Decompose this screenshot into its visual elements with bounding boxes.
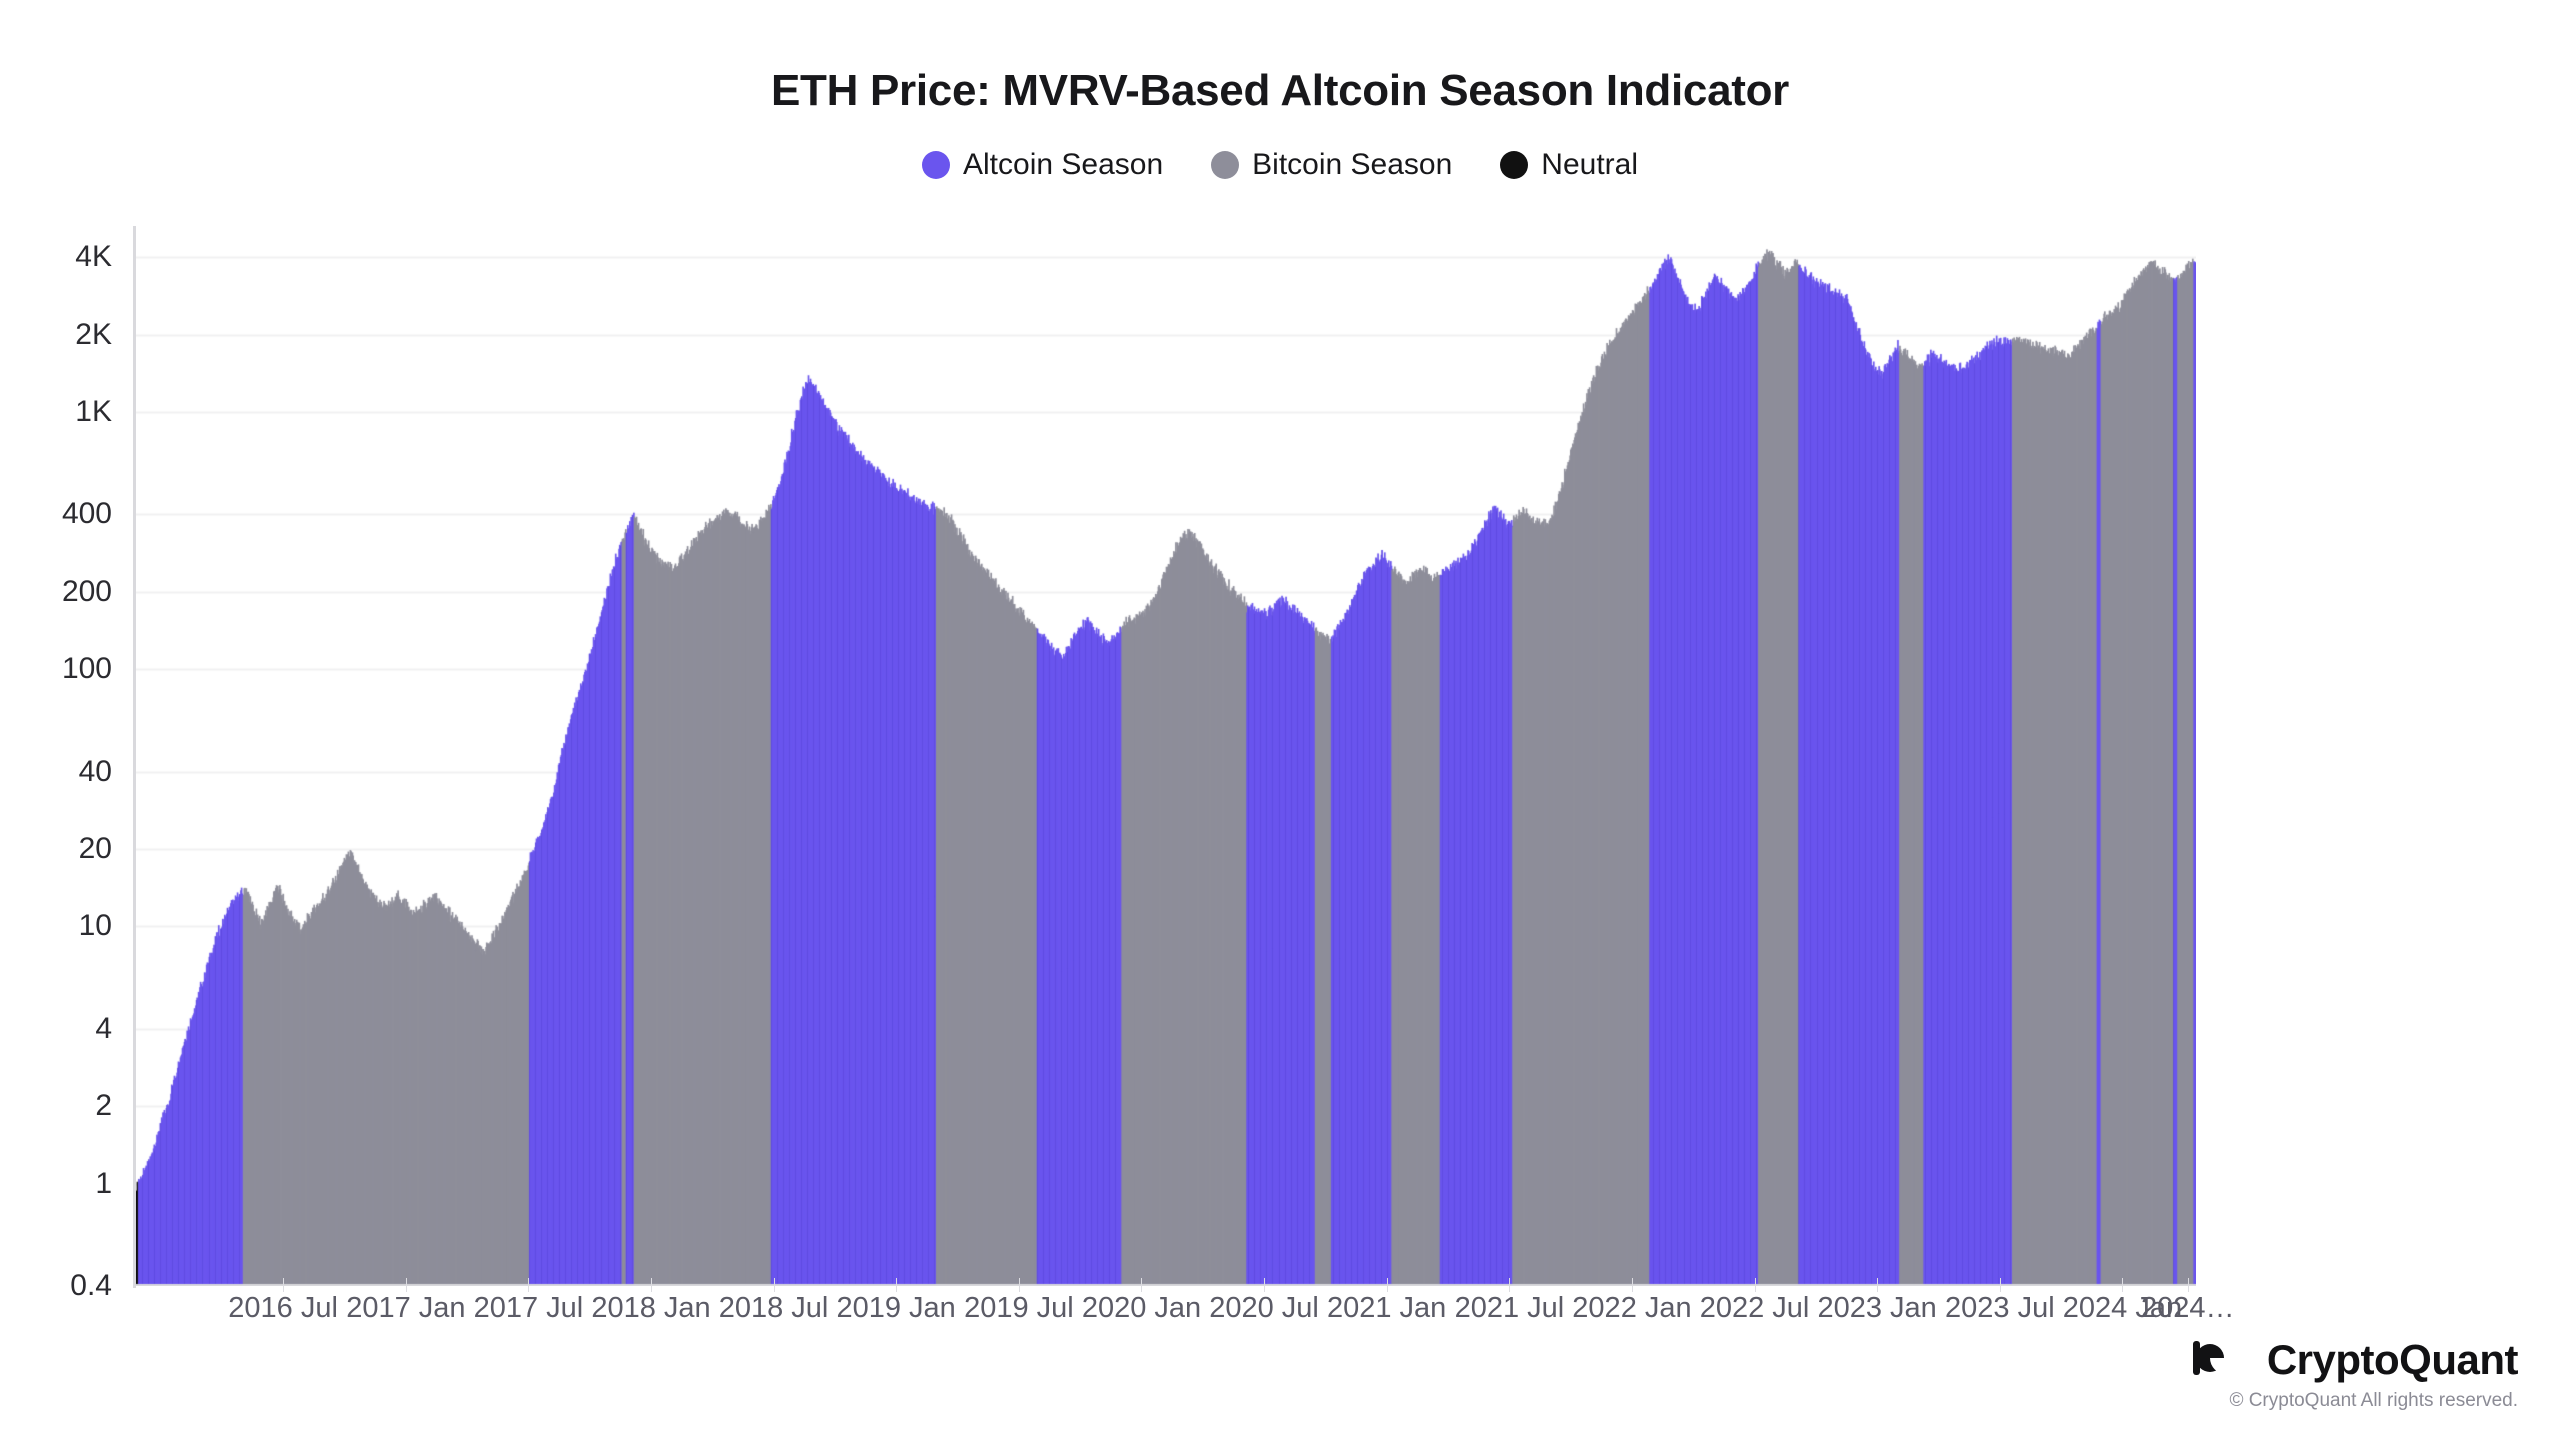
- x-axis-tick-label: 2018 Jul: [719, 1292, 829, 1325]
- legend-item-altcoin[interactable]: Altcoin Season: [922, 148, 1163, 182]
- x-axis-tick-label: 2022 Jan: [1572, 1292, 1691, 1325]
- price-area-chart[interactable]: [136, 228, 2196, 1286]
- y-axis-tick-label: 1K: [75, 395, 112, 429]
- y-axis-tick-label: 4K: [75, 240, 112, 274]
- plot-area[interactable]: [136, 228, 2196, 1286]
- x-axis-tick-mark: [2188, 1278, 2189, 1292]
- x-axis-tick-mark: [1877, 1278, 1878, 1292]
- x-axis-tick-mark: [1755, 1278, 1756, 1292]
- x-axis-tick-mark: [283, 1278, 284, 1292]
- x-axis-tick-mark: [651, 1278, 652, 1292]
- x-axis-tick-label: 2020 Jan: [1082, 1292, 1201, 1325]
- x-axis-tick-label: 2023 Jan: [1817, 1292, 1936, 1325]
- y-axis-tick-label: 0.4: [70, 1269, 112, 1303]
- legend-label: Neutral: [1541, 148, 1638, 182]
- y-axis-tick-label: 10: [79, 909, 112, 943]
- y-axis-tick-label: 20: [79, 832, 112, 866]
- x-axis-tick-mark: [2122, 1278, 2123, 1292]
- x-axis-tick-mark: [2000, 1278, 2001, 1292]
- brand-name: CryptoQuant: [2267, 1336, 2518, 1384]
- x-axis-tick-mark: [406, 1278, 407, 1292]
- x-axis-tick-label: 2016 Jul: [228, 1292, 338, 1325]
- y-axis-tick-label: 200: [62, 575, 112, 609]
- x-axis-tick-label: 2019 Jul: [964, 1292, 1074, 1325]
- legend-item-bitcoin[interactable]: Bitcoin Season: [1211, 148, 1452, 182]
- y-axis-tick-label: 100: [62, 652, 112, 686]
- x-axis-tick-mark: [1141, 1278, 1142, 1292]
- y-axis-tick-label: 2: [95, 1089, 112, 1123]
- x-axis-tick-label: 2021 Jul: [1455, 1292, 1565, 1325]
- x-axis-tick-label: 2017 Jul: [474, 1292, 584, 1325]
- x-axis-tick-label: 2018 Jan: [591, 1292, 710, 1325]
- y-axis-labels: 4K2K1K4002001004020104210.4: [0, 228, 126, 1286]
- x-axis-tick-label: 2023 Jul: [1945, 1292, 2055, 1325]
- x-axis-tick-mark: [1019, 1278, 1020, 1292]
- x-axis-tick-mark: [774, 1278, 775, 1292]
- chart-legend: Altcoin SeasonBitcoin SeasonNeutral: [0, 148, 2560, 182]
- x-axis-tick-label: 2021 Jan: [1327, 1292, 1446, 1325]
- legend-label: Altcoin Season: [963, 148, 1163, 182]
- y-axis-tick-label: 1: [95, 1167, 112, 1201]
- y-axis-tick-label: 4: [95, 1012, 112, 1046]
- x-axis-tick-label: 2019 Jan: [836, 1292, 955, 1325]
- legend-item-neutral[interactable]: Neutral: [1500, 148, 1638, 182]
- legend-swatch-neutral-icon: [1500, 151, 1528, 179]
- x-axis-tick-mark: [1387, 1278, 1388, 1292]
- x-axis-tick-label: 2022 Jul: [1700, 1292, 1810, 1325]
- copyright-text: © CryptoQuant All rights reserved.: [2193, 1390, 2518, 1412]
- y-axis-tick-label: 2K: [75, 318, 112, 352]
- page-title: ETH Price: MVRV-Based Altcoin Season Ind…: [0, 66, 2560, 116]
- x-axis-tick-mark: [1509, 1278, 1510, 1292]
- x-axis-tick-label: 2017 Jan: [346, 1292, 465, 1325]
- y-axis-tick-label: 40: [79, 755, 112, 789]
- x-axis-tick-mark: [528, 1278, 529, 1292]
- x-axis-tick-mark: [896, 1278, 897, 1292]
- x-axis-tick-mark: [1264, 1278, 1265, 1292]
- legend-swatch-bitcoin-icon: [1211, 151, 1239, 179]
- x-axis-tick-label: 2020 Jul: [1209, 1292, 1319, 1325]
- x-axis-tick-mark: [1632, 1278, 1633, 1292]
- legend-swatch-altcoin-icon: [922, 151, 950, 179]
- chart-page: ETH Price: MVRV-Based Altcoin Season Ind…: [0, 0, 2560, 1440]
- legend-label: Bitcoin Season: [1252, 148, 1452, 182]
- x-axis-tick-label: 2024…: [2141, 1292, 2235, 1325]
- branding: CryptoQuant © CryptoQuant All rights res…: [2193, 1336, 2518, 1412]
- x-axis-labels: 2016 Jul2017 Jan2017 Jul2018 Jan2018 Jul…: [136, 1292, 2196, 1336]
- cryptoquant-logo-icon: [2193, 1337, 2251, 1384]
- y-axis-tick-label: 400: [62, 497, 112, 531]
